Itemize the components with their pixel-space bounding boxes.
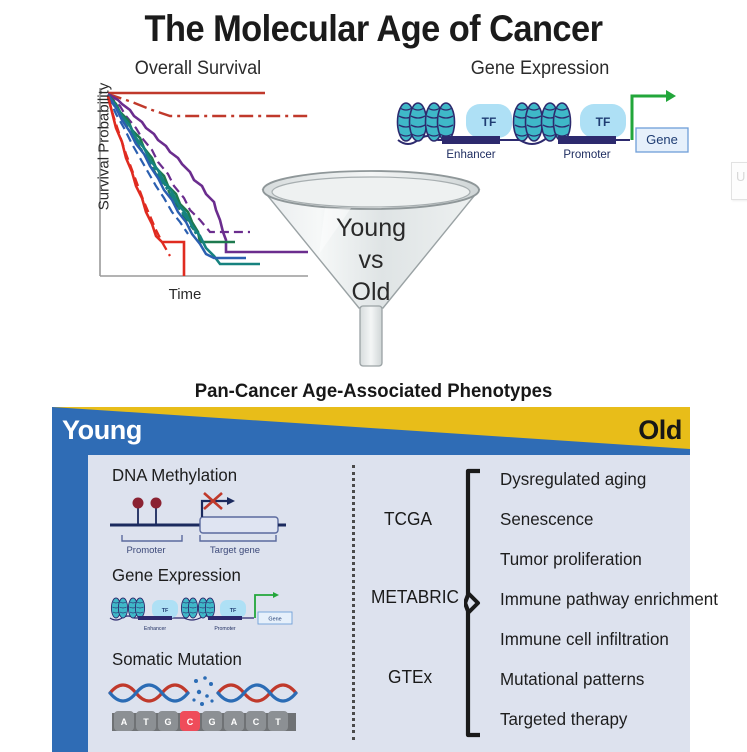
- phenotype-item-4: Immune pathway enrichment: [500, 589, 718, 610]
- base-letter: C: [253, 717, 260, 727]
- target-gene-bracket: [200, 535, 276, 541]
- gene-expression-heading: Gene Expression: [398, 58, 683, 80]
- base-cell: A: [224, 711, 244, 731]
- phenotype-section: Young Old DNA Methylation Promoter Ta: [52, 407, 690, 752]
- base-cell: G: [158, 711, 178, 731]
- mini-promoter-label: Promoter: [214, 626, 236, 632]
- methylation-promoter-label: Promoter: [110, 545, 182, 556]
- mini-tf-label-1: TF: [162, 608, 169, 614]
- funnel-line-young: Young: [255, 212, 487, 244]
- young-side-rail: [52, 447, 88, 752]
- mini-enhancer-element: [138, 616, 172, 620]
- mutation-break-particles: [192, 676, 213, 706]
- dna-helix: [110, 685, 296, 701]
- band-label-old: Old: [638, 415, 682, 446]
- base-letter-mutated: C: [187, 717, 194, 727]
- nucleosome-group-promoter: [514, 103, 571, 141]
- base-cell: C: [246, 711, 266, 731]
- figure-title: The Molecular Age of Cancer: [26, 8, 721, 50]
- base-cell: A: [114, 711, 134, 731]
- tf-label-2: TF: [596, 115, 611, 129]
- target-gene-box: [200, 517, 278, 533]
- base-letter: T: [143, 717, 149, 727]
- enhancer-element: [442, 136, 500, 144]
- overall-survival-heading: Overall Survival: [84, 58, 312, 80]
- phenotype-item-3: Tumor proliferation: [500, 549, 642, 570]
- phenotype-panel: DNA Methylation Promoter Target gene Gen…: [88, 455, 690, 752]
- base-cell: T: [268, 711, 288, 731]
- vertical-divider: [352, 465, 355, 740]
- modality-title-gene-expression: Gene Expression: [112, 565, 241, 586]
- gene-box-label: Gene: [646, 132, 678, 147]
- section-heading: Pan-Cancer Age-Associated Phenotypes: [19, 380, 729, 403]
- mini-tf-label-2: TF: [230, 608, 237, 614]
- gene-expression-mini-diagram: TF TF Enhancer Promoter Gene: [108, 588, 296, 638]
- band-label-young: Young: [62, 415, 142, 446]
- promoter-bracket: [122, 535, 182, 541]
- arrowhead-icon: [227, 497, 235, 505]
- dataset-label-gtex: GTEx: [388, 667, 432, 688]
- promoter-label: Promoter: [563, 149, 610, 161]
- base-cell: G: [202, 711, 222, 731]
- edge-ui-chip[interactable]: U: [731, 162, 747, 200]
- base-cell: T: [136, 711, 156, 731]
- edge-chip-glyph: U: [736, 169, 745, 184]
- base-letter: G: [164, 717, 171, 727]
- methyl-group-2: [151, 498, 162, 509]
- mini-enhancer-label: Enhancer: [144, 626, 166, 632]
- funnel-rim-inner: [272, 177, 470, 207]
- somatic-mutation-diagram: A T G C G A C T: [106, 673, 306, 735]
- base-cell-mutated: C: [180, 711, 200, 731]
- gene-expression-diagram: TF TF Enhancer Promoter Gene: [392, 82, 692, 174]
- mini-gene-label: Gene: [268, 617, 281, 623]
- phenotype-item-2: Senescence: [500, 509, 593, 530]
- dataset-label-metabric: METABRIC: [371, 587, 459, 608]
- base-letter: A: [231, 717, 238, 727]
- funnel-line-old: Old: [255, 276, 487, 308]
- funnel-stem: [360, 306, 382, 366]
- dna-methylation-diagram: [108, 489, 288, 545]
- funnel-line-vs: vs: [255, 244, 487, 276]
- promoter-element: [558, 136, 616, 144]
- arrowhead-icon: [273, 592, 279, 598]
- survival-x-axis-label: Time: [105, 286, 265, 303]
- phenotype-item-5: Immune cell infiltration: [500, 629, 669, 650]
- tf-label-1: TF: [482, 115, 497, 129]
- figure-canvas: The Molecular Age of Cancer Overall Surv…: [0, 0, 747, 752]
- base-letter: A: [121, 717, 128, 727]
- modality-title-dna-methylation: DNA Methylation: [112, 465, 237, 486]
- mini-promoter-element: [208, 616, 242, 620]
- age-gradient-band: [52, 407, 690, 457]
- enhancer-label: Enhancer: [446, 149, 495, 161]
- methylation-target-gene-label: Target gene: [194, 545, 276, 556]
- grouping-brace: [464, 467, 490, 739]
- phenotype-item-6: Mutational patterns: [500, 669, 644, 690]
- dataset-label-tcga: TCGA: [384, 509, 432, 530]
- arrowhead-icon: [666, 90, 676, 102]
- survival-y-axis-label: Survival Probability: [96, 67, 113, 227]
- base-letter: T: [275, 717, 281, 727]
- phenotype-item-1: Dysregulated aging: [500, 469, 646, 490]
- gene-expression-svg: TF TF Enhancer Promoter Gene: [392, 82, 692, 174]
- base-letter: G: [208, 717, 215, 727]
- funnel-text: Young vs Old: [255, 212, 487, 308]
- phenotype-item-7: Targeted therapy: [500, 709, 627, 730]
- methyl-group-1: [133, 498, 144, 509]
- modality-title-somatic-mutation: Somatic Mutation: [112, 649, 242, 670]
